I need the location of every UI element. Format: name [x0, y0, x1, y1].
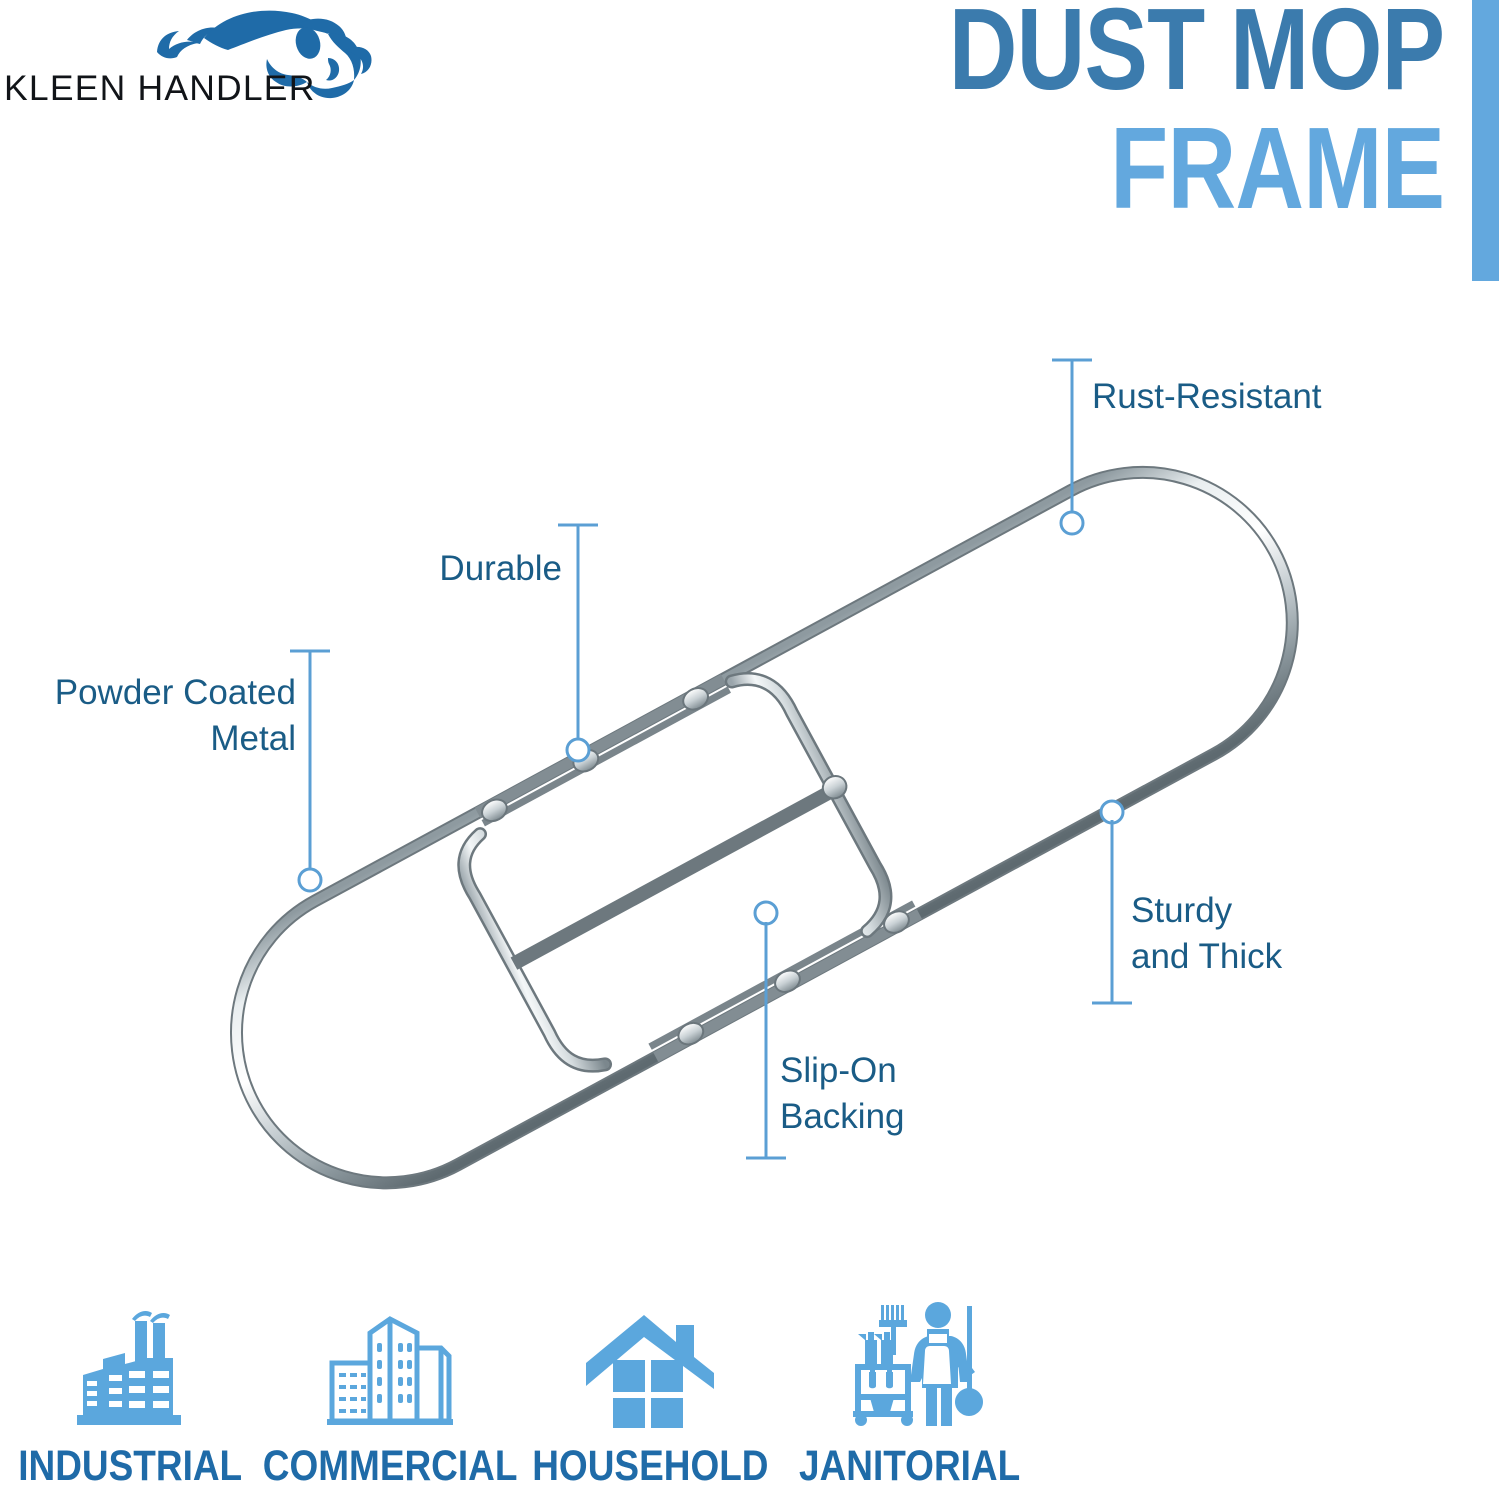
bracket-crossbar	[514, 790, 834, 964]
bracket-right-arm-highlight	[732, 663, 901, 931]
frame-outer-wire	[183, 419, 1346, 1236]
frame-outer-wire-highlight	[183, 419, 1346, 1236]
handle-bracket	[443, 663, 901, 1087]
brand-name: KLEEN HANDLER	[4, 68, 316, 109]
mop-frame-body	[180, 414, 1348, 1242]
janitor-with-cart-icon	[837, 1288, 983, 1428]
category-industrial: INDUSTRIAL	[0, 1288, 260, 1500]
office-buildings-icon	[323, 1288, 457, 1428]
brand-logo: KLEEN HANDLER	[4, 8, 404, 128]
application-categories: INDUSTRIAL	[0, 1288, 1040, 1500]
leader-rust-resistant	[1052, 360, 1092, 534]
title-line-1: DUST MOP	[949, 0, 1444, 103]
page-title: DUST MOP FRAME	[840, 0, 1444, 221]
factory-icon	[69, 1288, 191, 1428]
header-accent-bar	[1472, 0, 1499, 281]
callout-label-slip-on-backing: Slip-On Backing	[780, 1048, 1110, 1139]
frame-bottom-rail	[656, 914, 920, 1057]
frame-top-rail	[478, 679, 724, 813]
frame-bottom-rail-second	[650, 904, 914, 1047]
bracket-crossbar-highlight	[514, 790, 834, 964]
infographic-canvas: KLEEN HANDLER DUST MOP FRAME	[0, 0, 1499, 1500]
category-label-household: HOUSEHOLD	[532, 1442, 768, 1491]
leader-powder-coated-metal	[290, 651, 330, 891]
category-label-industrial: INDUSTRIAL	[18, 1442, 242, 1491]
category-commercial: COMMERCIAL	[260, 1288, 520, 1500]
frame-bottom-rail-highlight	[656, 914, 920, 1057]
leader-sturdy-and-thick	[1092, 801, 1132, 1003]
house-icon	[582, 1288, 718, 1428]
leader-durable	[558, 525, 598, 761]
bracket-left-arm	[450, 834, 605, 1081]
callout-label-durable: Durable	[270, 546, 562, 592]
callout-leader-lines	[290, 360, 1132, 1158]
category-label-commercial: COMMERCIAL	[263, 1442, 518, 1491]
frame-top-rail-second	[483, 690, 729, 824]
frame-rivets	[477, 646, 920, 1080]
callout-label-powder-coated-metal: Powder Coated Metal	[0, 670, 296, 761]
title-line-2: FRAME	[949, 115, 1444, 222]
frame-top-rail-highlight	[478, 679, 724, 813]
bracket-left-arm-highlight	[450, 834, 605, 1081]
bracket-right-arm	[732, 663, 901, 931]
category-household: HOUSEHOLD	[520, 1288, 780, 1500]
category-janitorial: JANITORIAL	[780, 1288, 1040, 1500]
category-label-janitorial: JANITORIAL	[799, 1442, 1020, 1491]
callout-label-rust-resistant: Rust-Resistant	[1092, 374, 1492, 420]
callout-label-sturdy-and-thick: Sturdy and Thick	[1131, 888, 1471, 979]
